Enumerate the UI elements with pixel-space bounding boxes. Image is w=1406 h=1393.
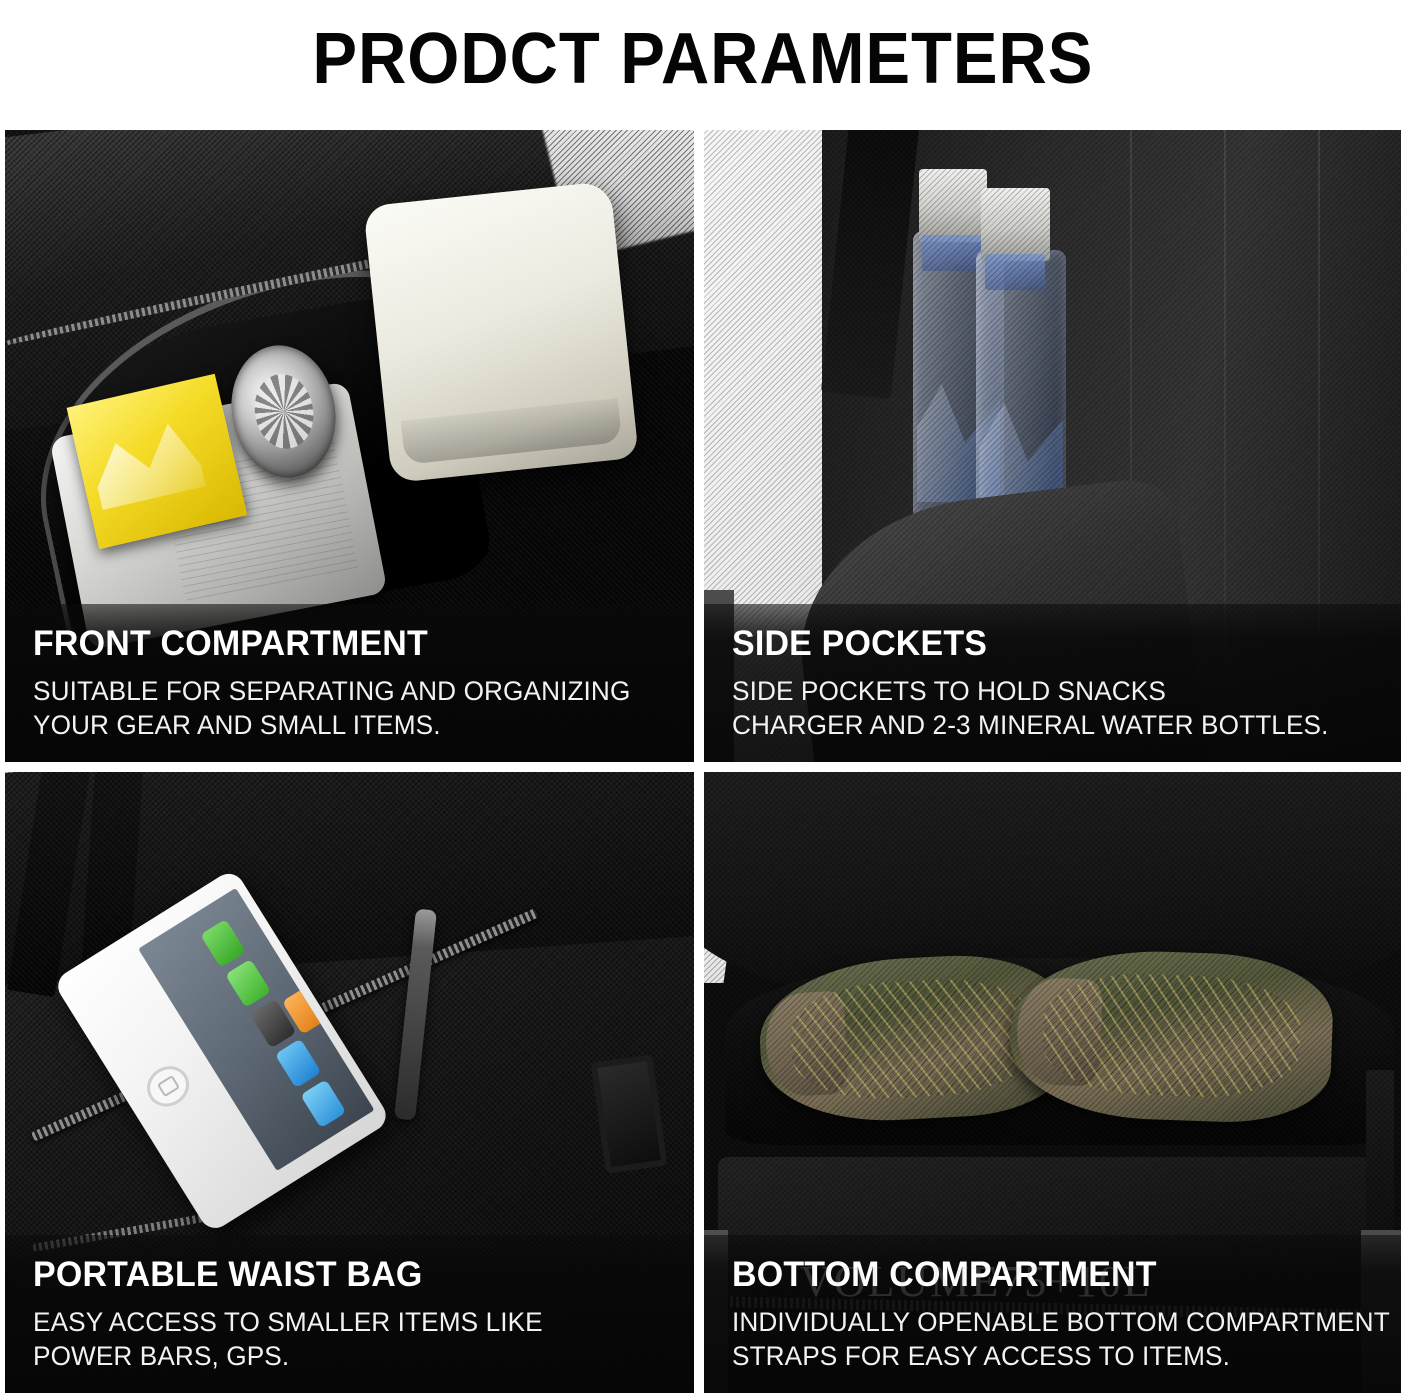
title-bar: PRODCT PARAMETERS [0,0,1406,118]
caption-heading: BOTTOM COMPARTMENT [732,1257,1356,1294]
caption-bottom-compartment: BOTTOM COMPARTMENT INDIVIDUALLY OPENABLE… [704,1235,1401,1393]
caption-body-line: INDIVIDUALLY OPENABLE BOTTOM COMPARTMENT [732,1305,1356,1339]
white-pouch-object [363,181,639,483]
panel-grid: FRONT COMPARTMENT SUITABLE FOR SEPARATIN… [5,130,1401,1393]
safari-app-icon [275,1040,321,1089]
caption-body-line: SUITABLE FOR SEPARATING AND ORGANIZING [33,674,649,708]
panel-portable-waist-bag: PORTABLE WAIST BAG EASY ACCESS TO SMALLE… [5,772,694,1393]
messages-app-icon [225,959,271,1008]
product-parameters-infographic: PRODCT PARAMETERS FRONT COMPARTMENT [0,0,1406,1393]
panel-side-pockets: SIDE POCKETS SIDE POCKETS TO HOLD SNACKS… [704,130,1401,762]
page-title: PRODCT PARAMETERS [313,23,1094,95]
caption-portable-waist-bag: PORTABLE WAIST BAG EASY ACCESS TO SMALLE… [5,1235,694,1393]
mail-app-icon [300,1080,346,1129]
caption-body-line: SIDE POCKETS TO HOLD SNACKS [732,674,1356,708]
caption-body: EASY ACCESS TO SMALLER ITEMS LIKE POWER … [33,1305,649,1373]
caption-heading: FRONT COMPARTMENT [33,626,649,663]
caption-body-line: STRAPS FOR EASY ACCESS TO ITEMS. [732,1339,1356,1373]
caption-heading: SIDE POCKETS [732,626,1356,663]
caption-body-line: EASY ACCESS TO SMALLER ITEMS LIKE [33,1305,649,1339]
caption-body: SIDE POCKETS TO HOLD SNACKS CHARGER AND … [732,674,1356,742]
phone-home-button [140,1059,197,1114]
caption-body-line: CHARGER AND 2-3 MINERAL WATER BOTTLES. [732,708,1356,742]
caption-body: INDIVIDUALLY OPENABLE BOTTOM COMPARTMENT… [732,1305,1356,1373]
caption-body-line: YOUR GEAR AND SMALL ITEMS. [33,708,649,742]
phone-app-icon [200,919,246,968]
caption-front-compartment: FRONT COMPARTMENT SUITABLE FOR SEPARATIN… [5,604,694,762]
caption-body-line: POWER BARS, GPS. [33,1339,649,1373]
caption-side-pockets: SIDE POCKETS SIDE POCKETS TO HOLD SNACKS… [704,604,1401,762]
panel-front-compartment: FRONT COMPARTMENT SUITABLE FOR SEPARATIN… [5,130,694,762]
panel-bottom-compartment: VOLUME75+10L BOTTOM COMPARTMENT INDIVIDU… [704,772,1401,1393]
caption-heading: PORTABLE WAIST BAG [33,1257,649,1294]
caption-body: SUITABLE FOR SEPARATING AND ORGANIZING Y… [33,674,649,742]
